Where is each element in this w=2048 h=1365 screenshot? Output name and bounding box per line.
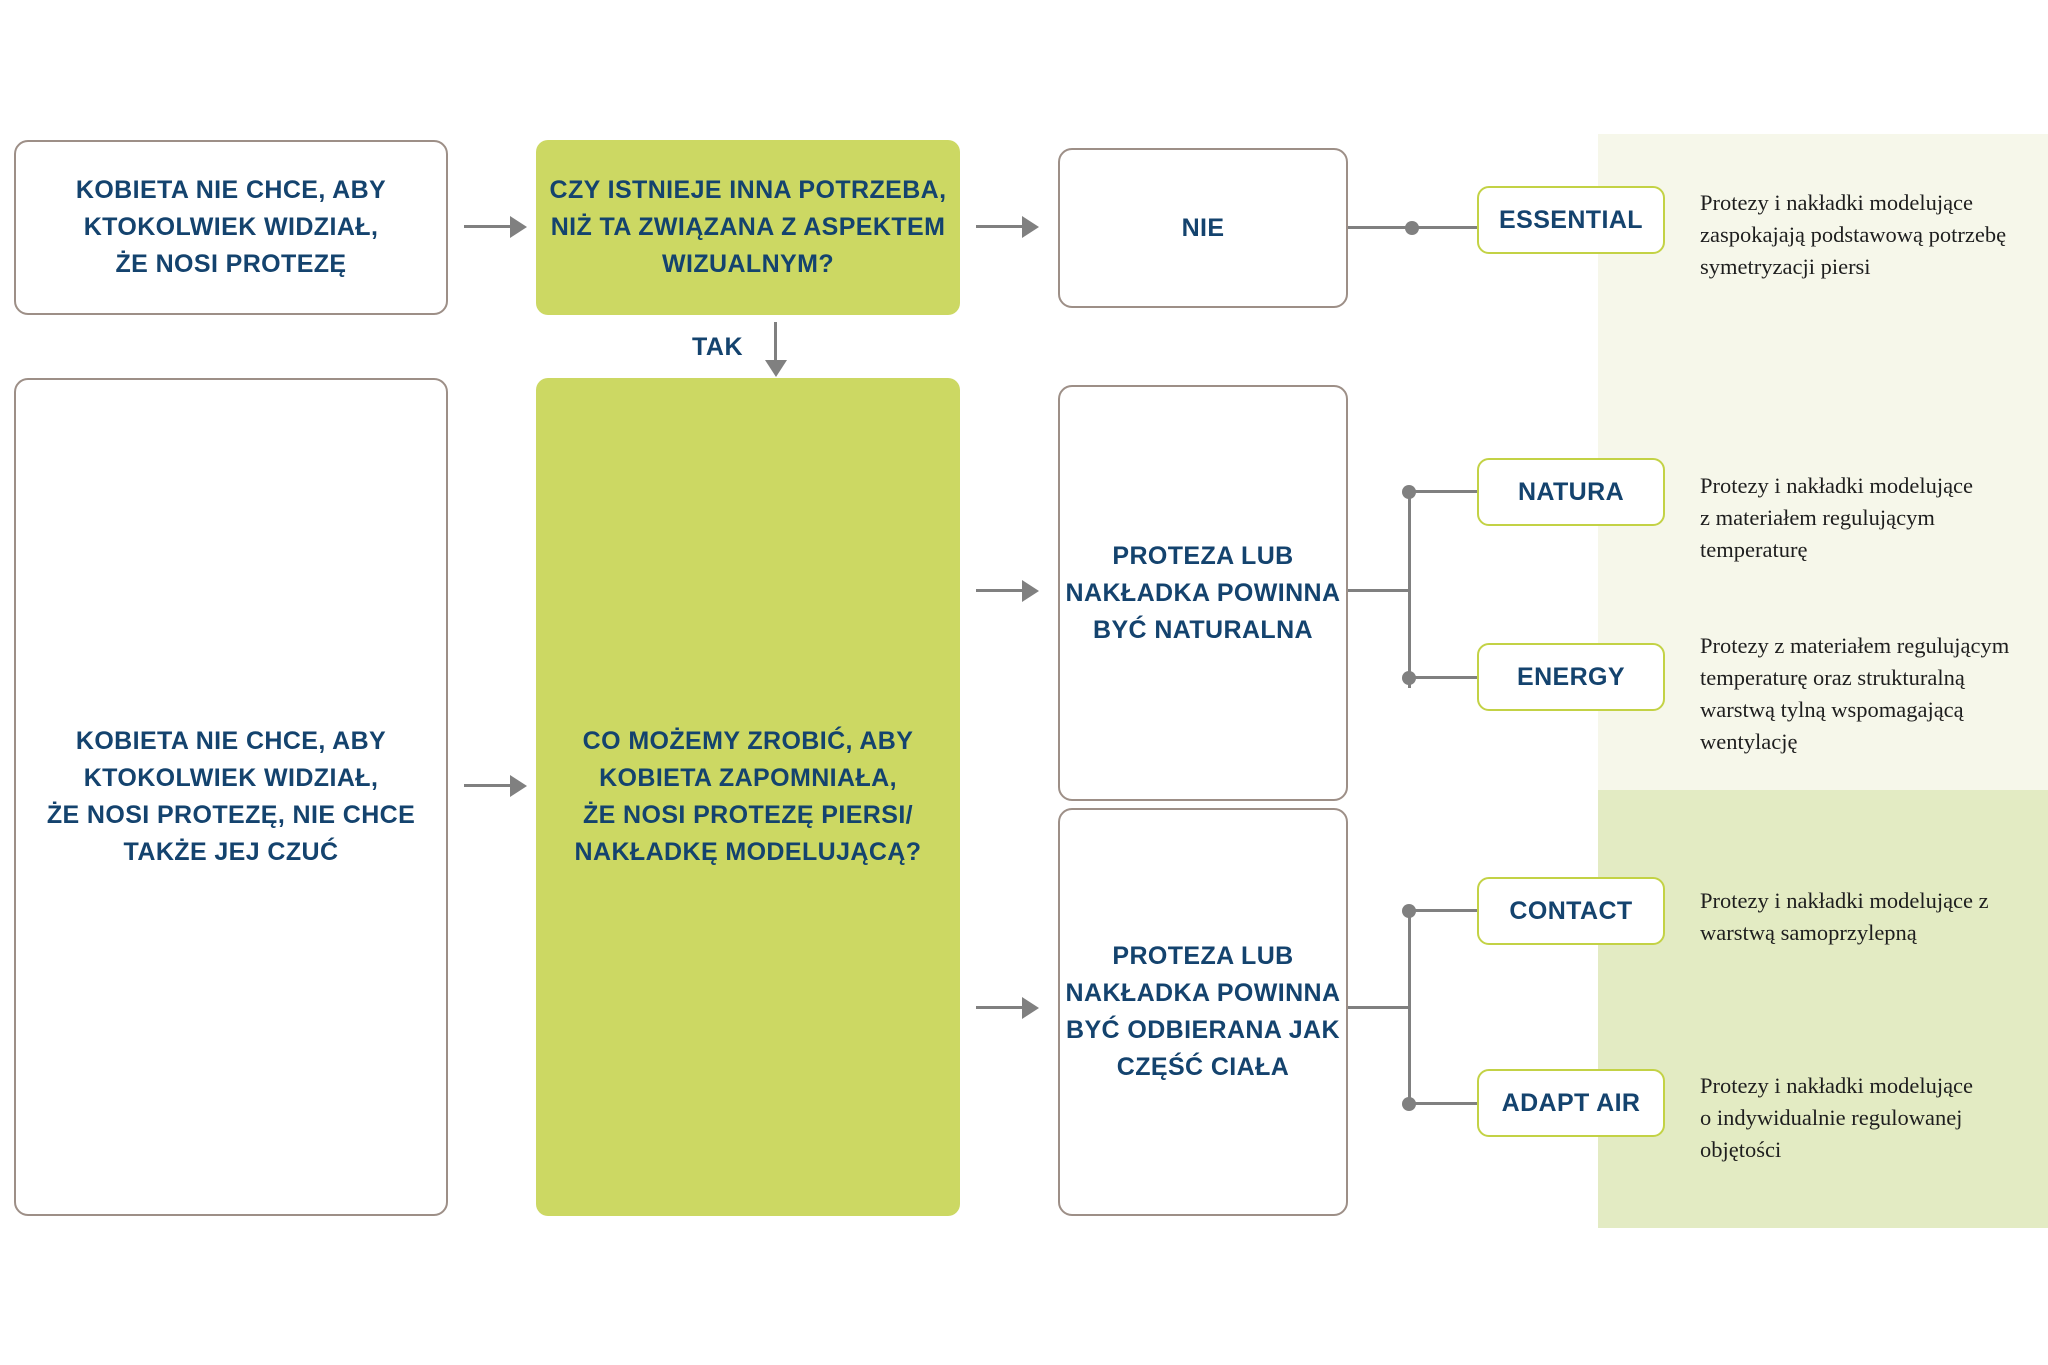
scenario-box-visual-only[interactable]: KOBIETA NIE CHCE, ABY KTOKOLWIEK WIDZIAŁ… [14, 140, 448, 315]
arrowhead-q1-to-d1 [510, 216, 527, 238]
connector-d2-to-body [976, 1006, 1024, 1009]
product-badge-contact-label: CONTACT [1509, 893, 1632, 930]
connector-q1-to-d1 [464, 225, 512, 228]
product-badge-natura-label: NATURA [1518, 474, 1624, 511]
connector-natural-stem [1348, 589, 1410, 592]
connector-d1-to-nie [976, 225, 1024, 228]
connector-body-stem [1348, 1006, 1410, 1009]
product-description-natura: Protezy i nakładki modelujące z materiał… [1700, 470, 2030, 566]
decision-box-forget-prosthesis-label: CO MOŻEMY ZROBIĆ, ABY KOBIETA ZAPOMNIAŁA… [575, 723, 922, 871]
product-badge-energy-label: ENERGY [1517, 659, 1625, 696]
connector-q2-to-d2 [464, 784, 512, 787]
outcome-box-part-of-body-label: PROTEZA LUB NAKŁADKA POWINNA BYĆ ODBIERA… [1066, 938, 1341, 1086]
outcome-box-part-of-body[interactable]: PROTEZA LUB NAKŁADKA POWINNA BYĆ ODBIERA… [1058, 808, 1348, 1216]
arrowhead-d2-to-natural [1022, 580, 1039, 602]
connector-natural-to-natura [1408, 490, 1478, 493]
product-description-contact: Protezy i nakładki modelujące z warstwą … [1700, 885, 2030, 949]
product-badge-energy[interactable]: ENERGY [1477, 643, 1665, 711]
product-badge-essential[interactable]: ESSENTIAL [1477, 186, 1665, 254]
outcome-box-natural-label: PROTEZA LUB NAKŁADKA POWINNA BYĆ NATURAL… [1066, 538, 1341, 649]
junction-dot-natura [1402, 485, 1416, 499]
arrowhead-d1-to-nie [1022, 216, 1039, 238]
outcome-box-no[interactable]: NIE [1058, 148, 1348, 308]
connector-natural-spine [1408, 490, 1411, 688]
arrowhead-q2-to-d2 [510, 775, 527, 797]
flowchart-canvas: KOBIETA NIE CHCE, ABY KTOKOLWIEK WIDZIAŁ… [0, 0, 2048, 1365]
scenario-box-visual-only-label: KOBIETA NIE CHCE, ABY KTOKOLWIEK WIDZIAŁ… [76, 172, 386, 283]
junction-dot-contact [1402, 904, 1416, 918]
connector-d2-to-natural [976, 589, 1024, 592]
junction-dot-adaptair [1402, 1097, 1416, 1111]
junction-dot-essential [1405, 221, 1419, 235]
decision-box-other-need[interactable]: CZY ISTNIEJE INNA POTRZEBA, NIŻ TA ZWIĄZ… [536, 140, 960, 315]
connector-d1-to-d2 [774, 322, 777, 364]
product-description-essential: Protezy i nakładki modelujące zaspokajaj… [1700, 187, 2030, 283]
arrowhead-d1-to-d2 [765, 360, 787, 377]
product-badge-essential-label: ESSENTIAL [1499, 202, 1643, 239]
product-badge-natura[interactable]: NATURA [1477, 458, 1665, 526]
scenario-box-visual-and-feel[interactable]: KOBIETA NIE CHCE, ABY KTOKOLWIEK WIDZIAŁ… [14, 378, 448, 1216]
arrowhead-d2-to-body [1022, 997, 1039, 1019]
outcome-box-no-label: NIE [1182, 210, 1225, 247]
decision-box-other-need-label: CZY ISTNIEJE INNA POTRZEBA, NIŻ TA ZWIĄZ… [550, 172, 947, 283]
connector-body-to-adaptair [1408, 1102, 1478, 1105]
connector-natural-to-energy [1408, 676, 1478, 679]
scenario-box-visual-and-feel-label: KOBIETA NIE CHCE, ABY KTOKOLWIEK WIDZIAŁ… [47, 723, 415, 871]
product-badge-contact[interactable]: CONTACT [1477, 877, 1665, 945]
decision-box-forget-prosthesis[interactable]: CO MOŻEMY ZROBIĆ, ABY KOBIETA ZAPOMNIAŁA… [536, 378, 960, 1216]
yes-branch-label: TAK [692, 333, 743, 362]
connector-body-to-contact [1408, 909, 1478, 912]
product-badge-adapt-air[interactable]: ADAPT AIR [1477, 1069, 1665, 1137]
product-badge-adapt-air-label: ADAPT AIR [1502, 1085, 1641, 1122]
outcome-box-natural[interactable]: PROTEZA LUB NAKŁADKA POWINNA BYĆ NATURAL… [1058, 385, 1348, 801]
product-description-adapt-air: Protezy i nakładki modelujące o indywidu… [1700, 1070, 2030, 1166]
product-description-energy: Protezy z materiałem regulującym tempera… [1700, 630, 2030, 758]
junction-dot-energy [1402, 671, 1416, 685]
connector-body-spine [1408, 909, 1411, 1105]
